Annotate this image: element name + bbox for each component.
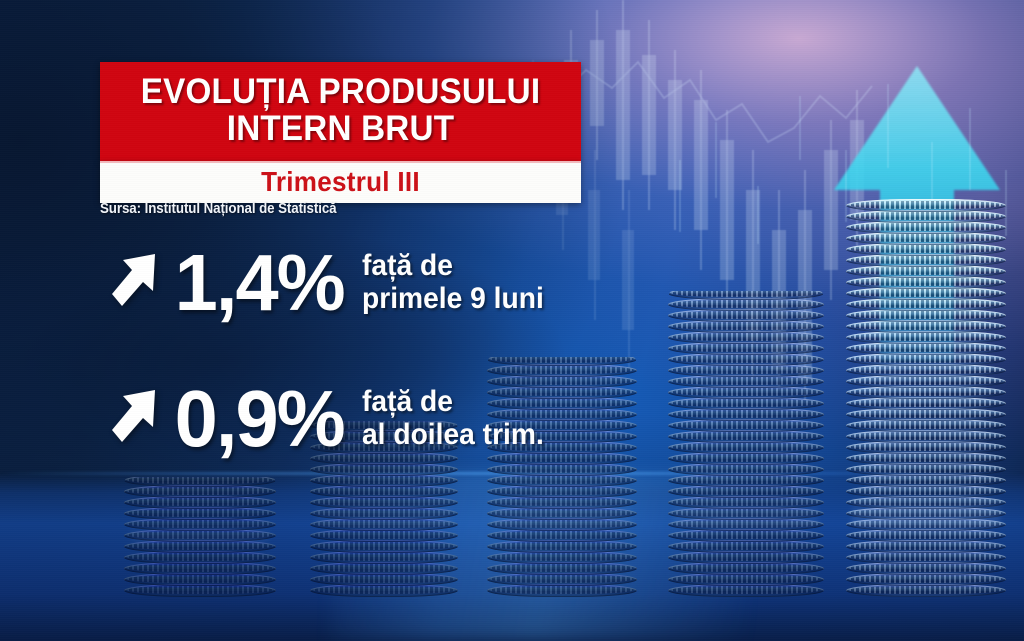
coin-stack-4: [668, 291, 824, 597]
coin-milling: [671, 399, 821, 407]
coin-milling: [671, 586, 821, 594]
source-attribution: Sursa: Institutul Național de Statistică: [100, 201, 336, 217]
coin-milling: [127, 575, 273, 583]
coin-milling: [671, 344, 821, 352]
coin-milling: [849, 542, 1003, 550]
coin-milling: [849, 344, 1003, 352]
headline-banner: EVOLUȚIA PRODUSULUI INTERN BRUT Trimestr…: [100, 62, 581, 203]
arrow-up-right-icon: [106, 250, 164, 316]
coin-milling: [671, 377, 821, 385]
coin-milling: [849, 311, 1003, 319]
coin: [124, 477, 276, 487]
coin-milling: [671, 410, 821, 418]
stat-value-2: 0,9%: [175, 382, 344, 456]
coin-milling: [849, 575, 1003, 583]
coin-milling: [671, 366, 821, 374]
coin-milling: [671, 454, 821, 462]
coin-milling: [849, 564, 1003, 572]
stat-row-1: 1,4% față de primele 9 luni: [106, 246, 556, 320]
coin-milling: [671, 476, 821, 484]
coin-milling: [849, 223, 1003, 231]
coin-milling: [671, 575, 821, 583]
coin-milling: [849, 399, 1003, 407]
coin-milling: [671, 388, 821, 396]
coin-milling: [849, 432, 1003, 440]
coin-milling: [849, 212, 1003, 220]
arrow-up-right-icon: [106, 386, 164, 452]
coin-milling: [849, 333, 1003, 341]
coin-milling: [849, 289, 1003, 297]
stat-row-2: 0,9% față de al doilea trim.: [106, 382, 556, 456]
coin-milling: [849, 201, 1003, 209]
coin-milling: [671, 355, 821, 363]
coin-milling: [671, 300, 821, 308]
coin-milling: [671, 542, 821, 550]
coin-milling: [849, 410, 1003, 418]
coin-milling: [671, 432, 821, 440]
coin-milling: [849, 355, 1003, 363]
coin-milling: [127, 542, 273, 550]
coin: [846, 199, 1006, 212]
coin-milling: [313, 553, 455, 561]
stat-label-1: față de primele 9 luni: [362, 250, 544, 315]
coin-milling: [490, 542, 634, 550]
coin-milling: [127, 498, 273, 506]
coin-milling: [671, 531, 821, 539]
coin-milling: [313, 531, 455, 539]
coin-milling: [671, 322, 821, 330]
coin-milling: [313, 575, 455, 583]
coin-milling: [313, 564, 455, 572]
banner-white-block: Trimestrul III: [100, 161, 581, 203]
coin-stack-reflection-5: [852, 492, 1000, 527]
coin-milling: [490, 366, 634, 374]
coin-milling: [127, 477, 273, 484]
coin-milling: [849, 377, 1003, 385]
coin-milling: [849, 465, 1003, 473]
coin-milling: [127, 564, 273, 572]
coin-milling: [127, 487, 273, 495]
coin-milling: [849, 388, 1003, 396]
coin-milling: [313, 586, 455, 594]
coin-milling: [490, 586, 634, 594]
coin-milling: [490, 357, 634, 363]
page-title: EVOLUȚIA PRODUSULUI INTERN BRUT: [122, 73, 560, 148]
coin-milling: [671, 291, 821, 297]
stat-value-1: 1,4%: [175, 246, 344, 320]
coin-stack-reflection-2: [316, 492, 452, 527]
coin-milling: [849, 454, 1003, 462]
coin-milling: [671, 333, 821, 341]
coin-milling: [490, 564, 634, 572]
coin-milling: [849, 234, 1003, 242]
coin-milling: [490, 465, 634, 473]
coin-milling: [849, 300, 1003, 308]
coin-milling: [849, 421, 1003, 429]
coin-milling: [313, 542, 455, 550]
coin-milling: [671, 443, 821, 451]
coin-milling: [849, 531, 1003, 539]
coin-milling: [671, 553, 821, 561]
coin-milling: [849, 267, 1003, 275]
coin-milling: [313, 476, 455, 484]
coin-milling: [849, 256, 1003, 264]
coin-stack-5: [846, 197, 1006, 597]
infographic-canvas: EVOLUȚIA PRODUSULUI INTERN BRUT Trimestr…: [0, 0, 1024, 641]
coin-milling: [490, 553, 634, 561]
banner-red-block: EVOLUȚIA PRODUSULUI INTERN BRUT: [100, 62, 581, 161]
coin-milling: [671, 421, 821, 429]
coin-milling: [849, 278, 1003, 286]
coin-milling: [671, 465, 821, 473]
coin-milling: [849, 245, 1003, 253]
coin-milling: [127, 586, 273, 594]
coin-milling: [490, 575, 634, 583]
coin-milling: [671, 311, 821, 319]
coin-milling: [849, 586, 1003, 594]
coin-stack-reflection-3: [493, 492, 631, 527]
coin-milling: [127, 553, 273, 561]
coin-milling: [490, 531, 634, 539]
banner-subtitle: Trimestrul III: [126, 168, 555, 196]
coin-milling: [849, 443, 1003, 451]
coin-stack-reflection-1: [130, 516, 270, 543]
coin-milling: [849, 553, 1003, 561]
coin-milling: [313, 465, 455, 473]
coin-milling: [490, 476, 634, 484]
coin-milling: [849, 322, 1003, 330]
coin-milling: [671, 564, 821, 572]
coin-stack-reflection-4: [674, 492, 818, 527]
stat-label-2: față de al doilea trim.: [362, 386, 544, 451]
coin-milling: [849, 476, 1003, 484]
coin-milling: [849, 366, 1003, 374]
